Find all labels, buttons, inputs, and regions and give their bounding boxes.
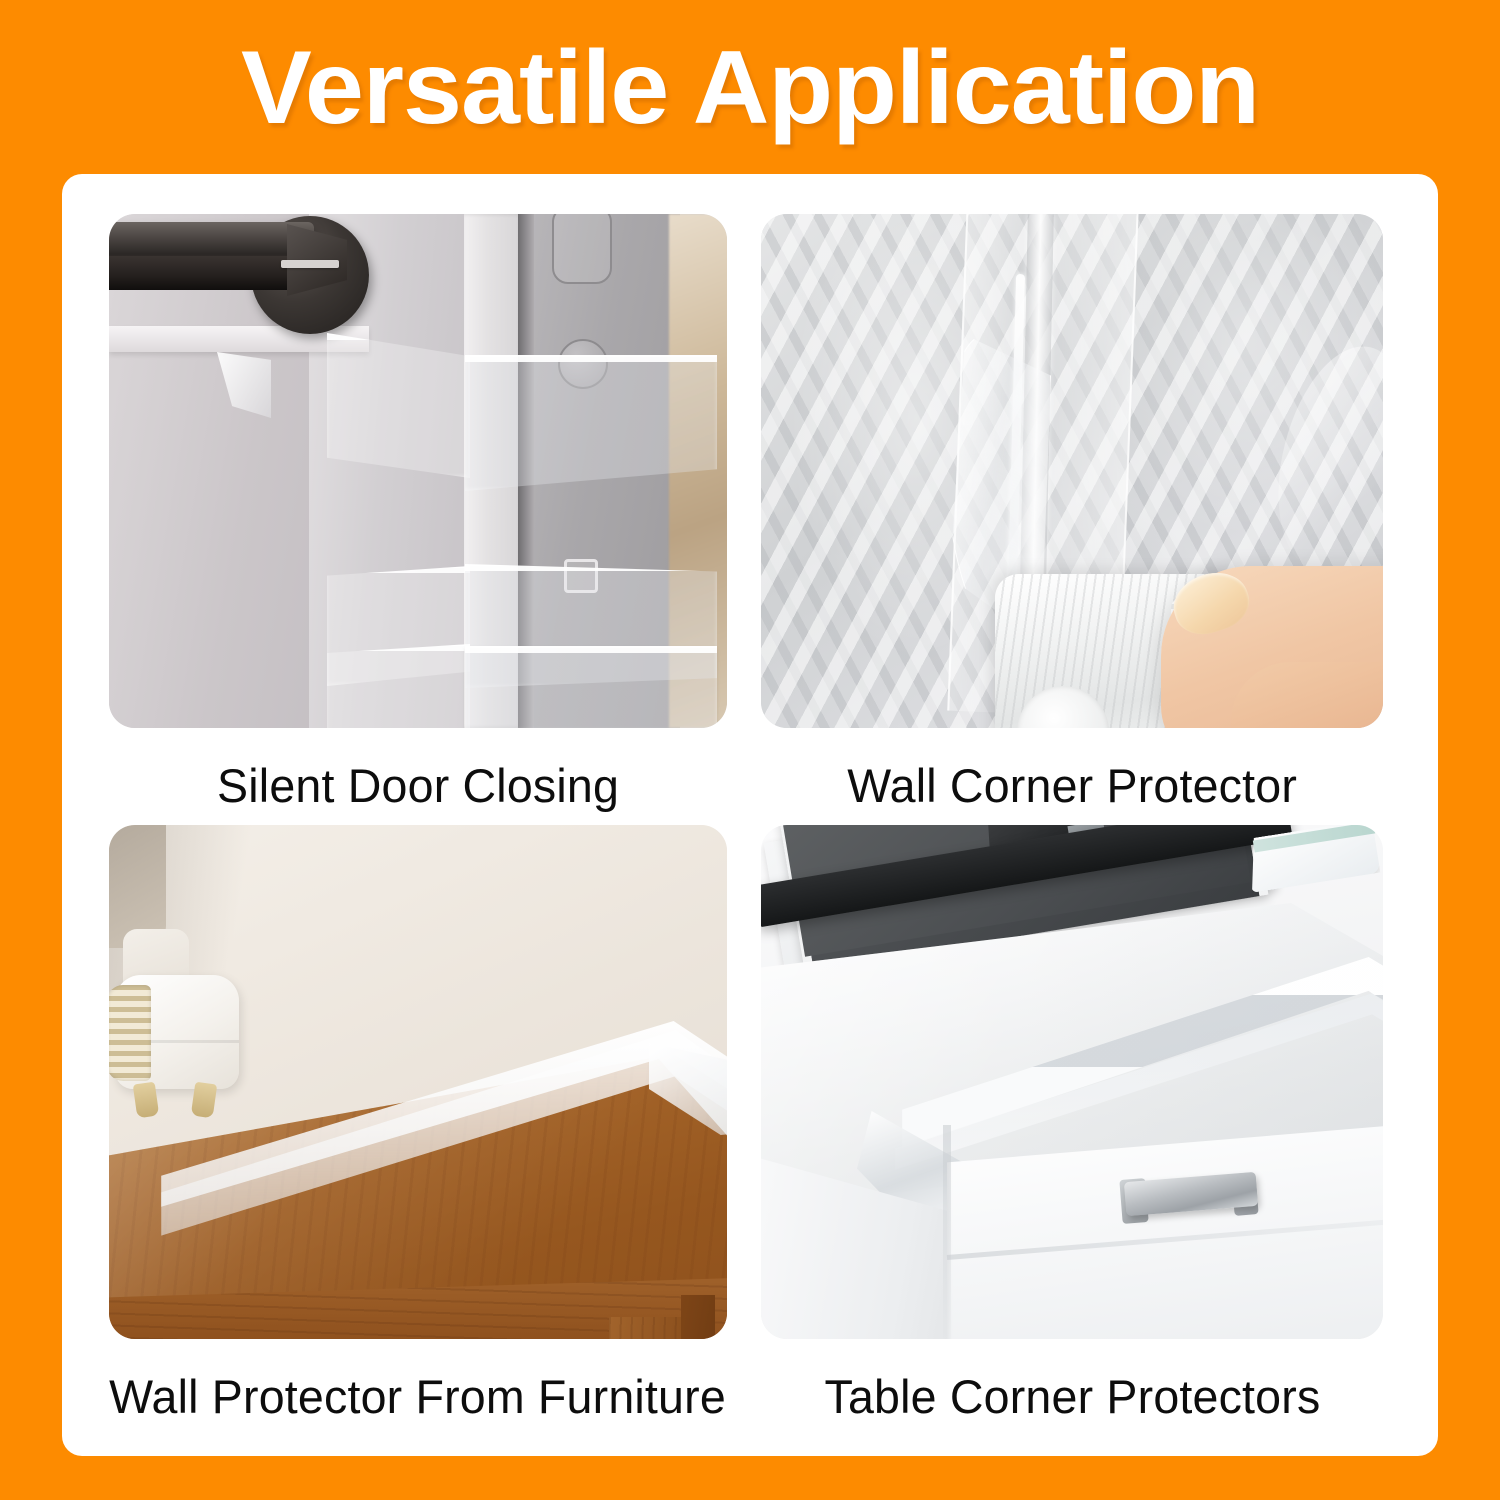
silicone-strip-3-left — [327, 644, 470, 728]
panel-caption-wall-corner-protector: Wall Corner Protector — [847, 758, 1297, 813]
speaker-leg-left — [133, 1082, 160, 1119]
panel-table-corner-protectors: Table Corner Protectors — [754, 825, 1390, 1426]
cabinet-panel-seam — [943, 1125, 951, 1339]
photo-table-corner-protectors — [761, 825, 1383, 1339]
panel-grid: Silent Door Closing Wal — [62, 174, 1438, 1456]
panel-wall-corner-protector: Wall Corner Protector — [754, 214, 1390, 815]
photo-wall-corner-protector — [761, 214, 1383, 728]
desk-leg-side — [681, 1295, 715, 1339]
panel-caption-silent-door-closing: Silent Door Closing — [217, 758, 619, 813]
silicone-strip-1-left — [327, 333, 470, 478]
photo-wall-protector-from-furniture — [109, 825, 727, 1339]
silicone-strip-1-right — [465, 355, 717, 491]
panel-silent-door-closing: Silent Door Closing — [100, 214, 736, 815]
page-title: Versatile Application — [0, 0, 1500, 175]
silicone-strip-3-right — [465, 646, 717, 728]
door-lever-highlight — [281, 260, 339, 268]
panel-wall-protector-from-furniture: Wall Protector From Furniture — [100, 825, 736, 1426]
speaker-grille-icon — [109, 985, 151, 1081]
desk-leg-front — [609, 1317, 681, 1339]
content-card: Silent Door Closing Wal — [62, 174, 1438, 1456]
panel-caption-wall-protector-from-furniture: Wall Protector From Furniture — [110, 1369, 727, 1424]
panel-caption-table-corner-protectors: Table Corner Protectors — [824, 1369, 1320, 1424]
door-lever-shadow — [109, 256, 299, 290]
photo-silent-door-closing — [109, 214, 727, 728]
